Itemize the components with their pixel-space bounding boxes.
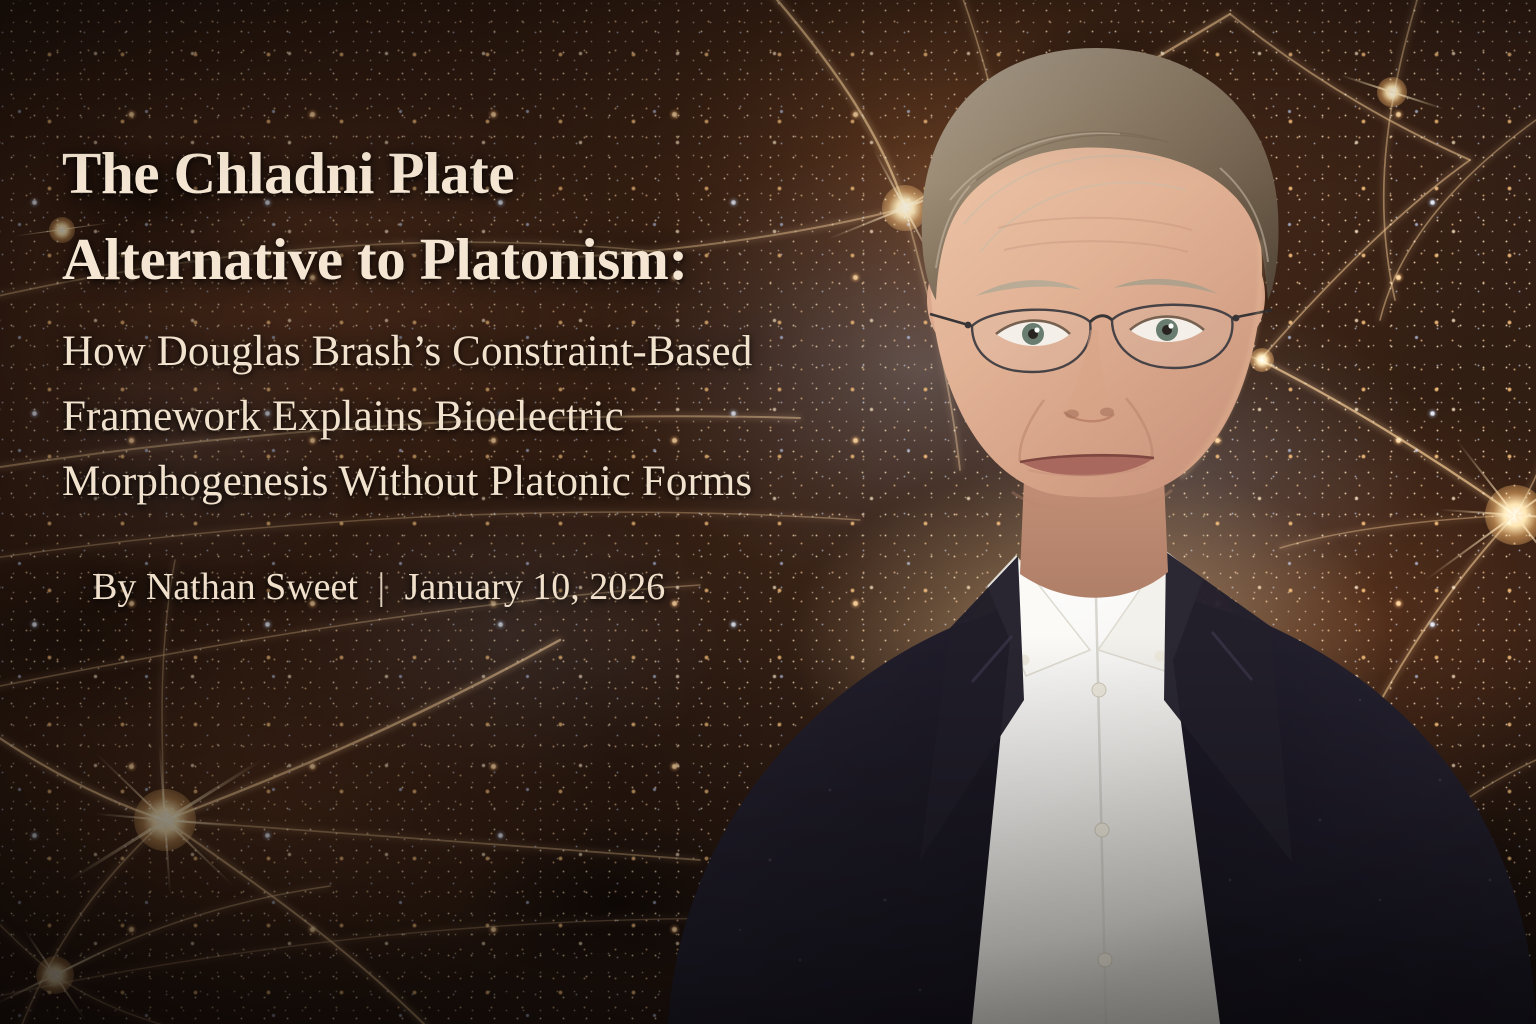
vignette-overlay — [0, 0, 1536, 1024]
article-hero-banner: The Chladni Plate Alternative to Platoni… — [0, 0, 1536, 1024]
